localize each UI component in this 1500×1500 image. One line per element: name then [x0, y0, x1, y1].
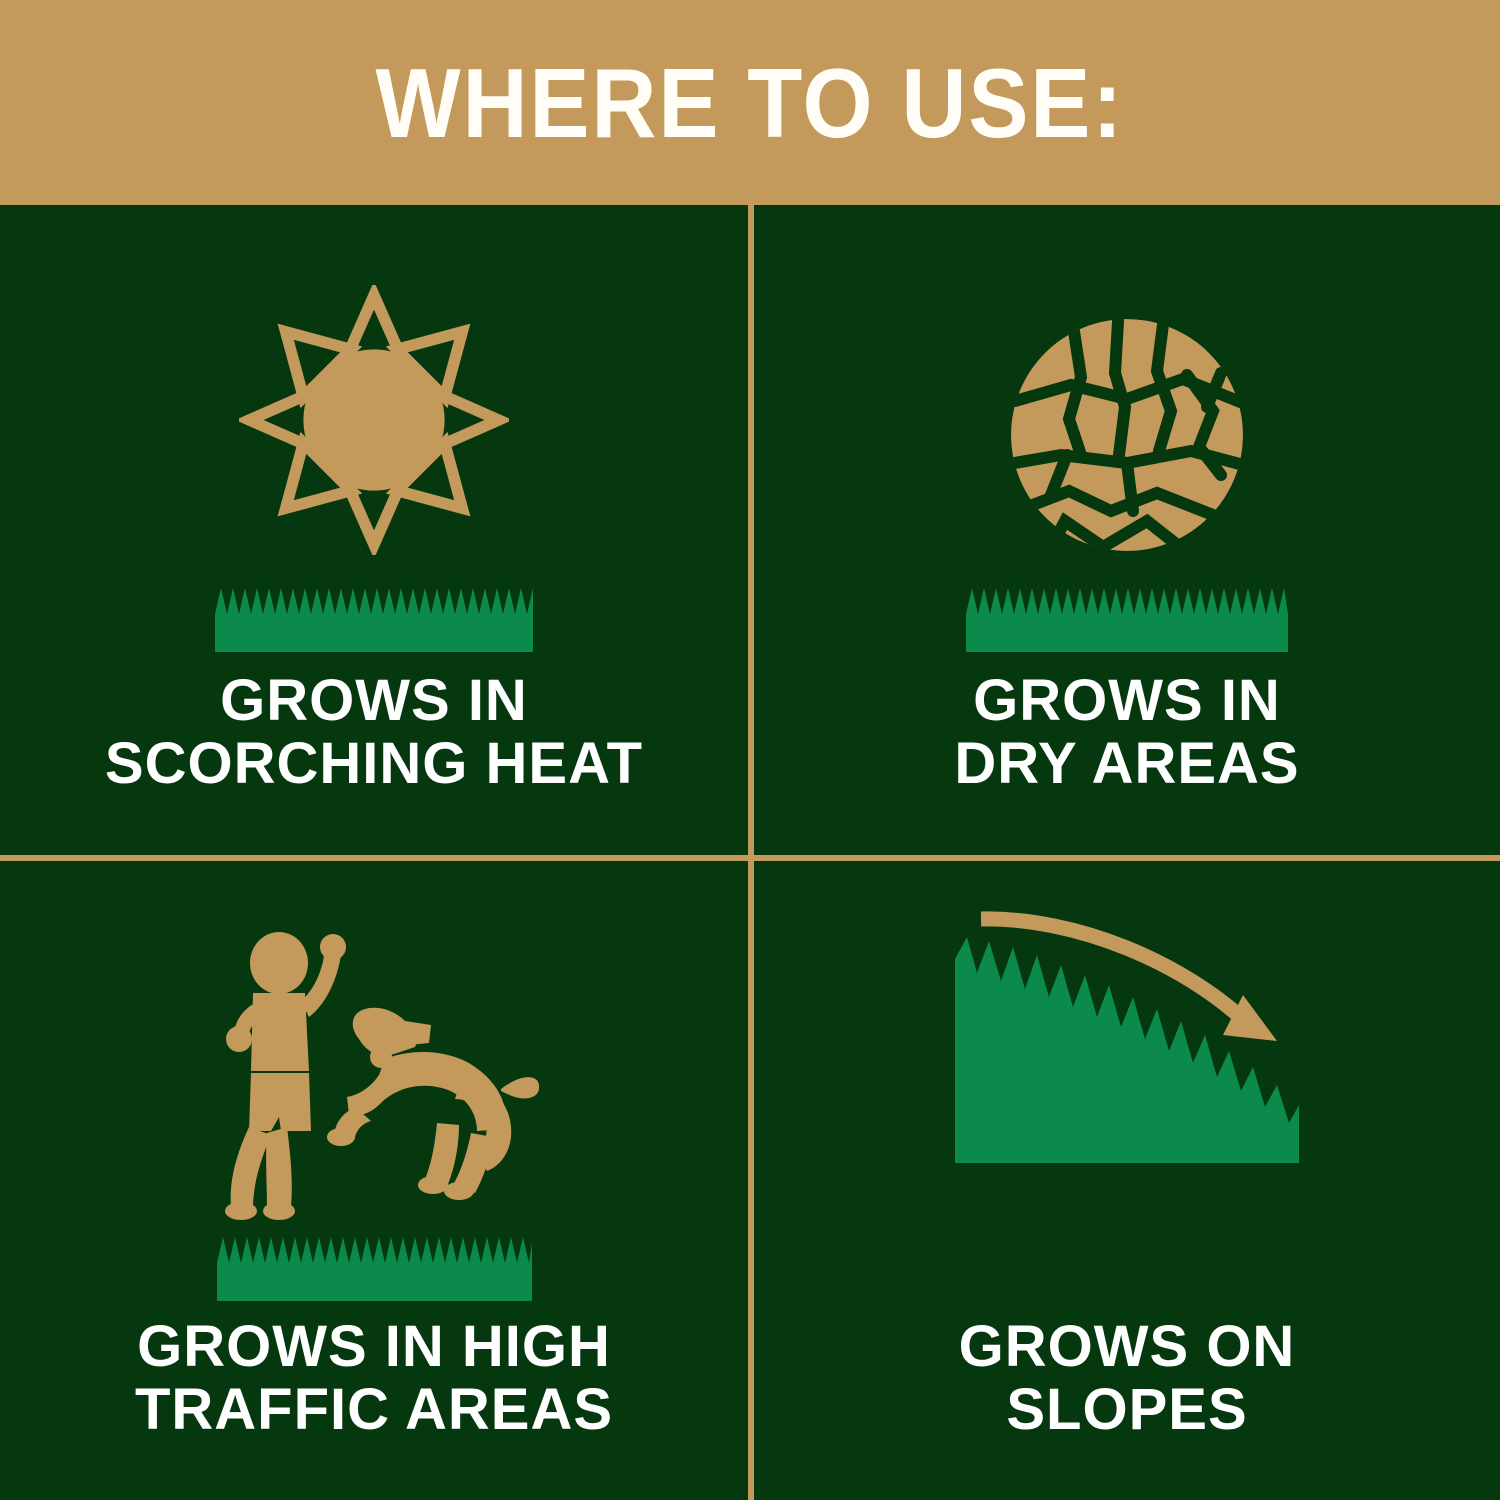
- cell-label: GROWS ON SLOPES: [754, 1316, 1500, 1441]
- cell-label-line1: GROWS IN: [754, 670, 1500, 733]
- cell-dry-areas[interactable]: GROWS IN DRY AREAS: [754, 205, 1500, 855]
- cell-scorching-heat[interactable]: GROWS IN SCORCHING HEAT: [0, 205, 748, 855]
- infographic-root: WHERE TO USE:: [0, 0, 1500, 1500]
- cell-label-line2: SCORCHING HEAT: [0, 733, 748, 796]
- cell-label-line2: TRAFFIC AREAS: [0, 1379, 748, 1442]
- sun-icon: [0, 265, 748, 555]
- cell-label-line1: GROWS ON: [754, 1316, 1500, 1379]
- cell-high-traffic-areas[interactable]: GROWS IN HIGH TRAFFIC AREAS: [0, 861, 748, 1500]
- cell-label: GROWS IN DRY AREAS: [754, 670, 1500, 795]
- horizontal-divider: [0, 855, 1500, 861]
- grass-bar: [0, 580, 748, 652]
- slope-grass: [955, 937, 1299, 1163]
- vertical-divider: [748, 205, 754, 1500]
- cell-label-line1: GROWS IN: [0, 670, 748, 733]
- benefit-grid: GROWS IN SCORCHING HEAT: [0, 205, 1500, 1500]
- cell-label-line2: DRY AREAS: [754, 733, 1500, 796]
- grass-bar: [0, 1229, 748, 1301]
- boy-and-dog-icon: [0, 921, 748, 1221]
- cell-label: GROWS IN HIGH TRAFFIC AREAS: [0, 1316, 748, 1441]
- cracked-earth-icon: [754, 275, 1500, 555]
- header-band: WHERE TO USE:: [0, 0, 1500, 205]
- cell-label-line1: GROWS IN HIGH: [0, 1316, 748, 1379]
- grass-bar: [754, 580, 1500, 652]
- grass-slope-arrow-icon: [754, 901, 1500, 1191]
- cell-label: GROWS IN SCORCHING HEAT: [0, 670, 748, 795]
- cell-slopes[interactable]: GROWS ON SLOPES: [754, 861, 1500, 1500]
- cell-label-line2: SLOPES: [754, 1379, 1500, 1442]
- page-title: WHERE TO USE:: [376, 54, 1125, 152]
